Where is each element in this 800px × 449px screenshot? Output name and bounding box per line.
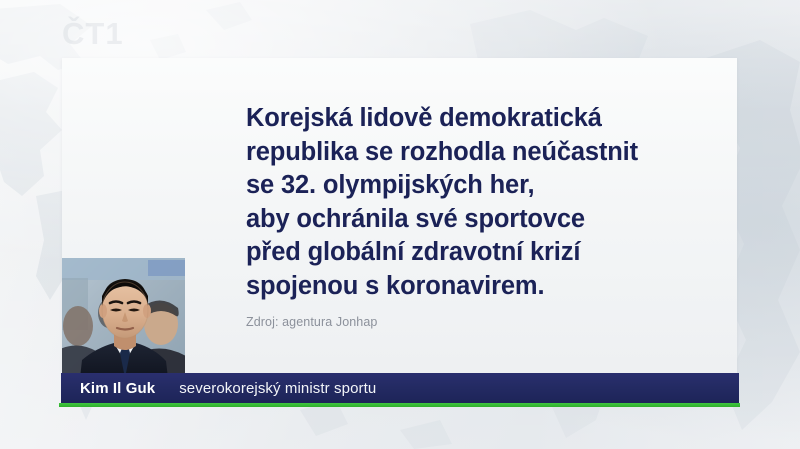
quote-text-block: Korejská lidově demokratická republika s… bbox=[246, 102, 721, 329]
quote-line: se 32. olympijských her, bbox=[246, 169, 721, 203]
channel-logo-label: ČT1 bbox=[62, 14, 134, 54]
quote-source-label: Zdroj: agentura Jonhap bbox=[246, 315, 721, 329]
channel-logo-icon: ČT1 bbox=[62, 14, 134, 54]
lower-third-name-bar: Kim Il Guk severokorejský ministr sportu bbox=[61, 373, 739, 403]
portrait-photo-icon bbox=[62, 258, 185, 378]
quote-line: Korejská lidově demokratická bbox=[246, 102, 721, 136]
quote-line: spojenou s koronavirem. bbox=[246, 270, 721, 304]
person-name-label: Kim Il Guk bbox=[80, 380, 155, 397]
lower-third-accent-rule bbox=[59, 403, 740, 407]
quote-line: aby ochránila své sportovce bbox=[246, 203, 721, 237]
portrait-photo bbox=[62, 258, 185, 378]
broadcast-graphic-screen: ČT1 Korejská lidově demokratická republi… bbox=[0, 0, 800, 449]
quote-line: republika se rozhodla neúčastnit bbox=[246, 136, 721, 170]
person-role-label: severokorejský ministr sportu bbox=[179, 380, 376, 397]
quote-line: před globální zdravotní krizí bbox=[246, 236, 721, 270]
